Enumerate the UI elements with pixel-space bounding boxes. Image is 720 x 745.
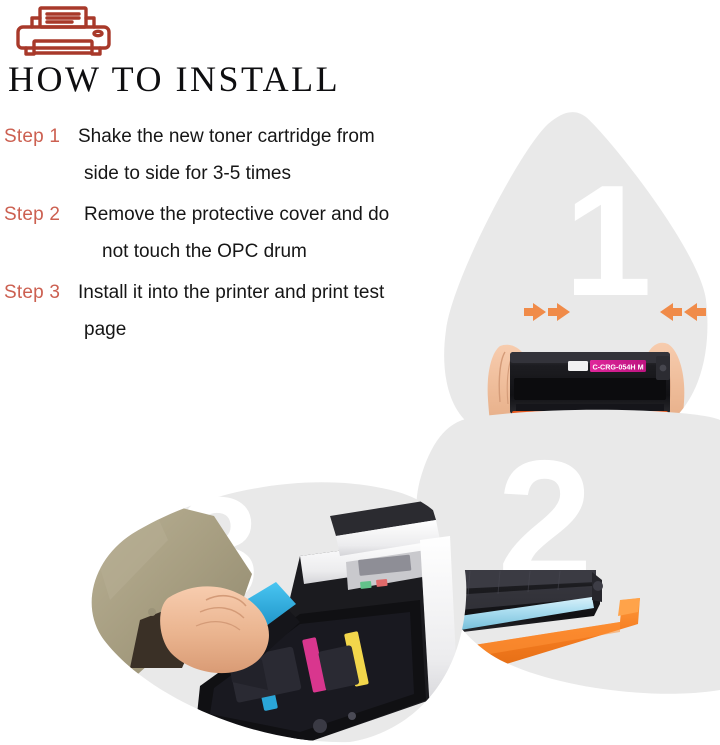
hands-holding-cartridge (488, 343, 685, 462)
step-item-3: Step 3 Install it into the printer and p… (4, 282, 474, 356)
cartridge-brand-tag (568, 361, 588, 371)
step-text-3-line-2: page (84, 319, 126, 340)
illustration-step-2: 2 (414, 410, 720, 694)
watermark-number-1: 1 (564, 153, 652, 329)
shirt-cuff (130, 606, 200, 668)
step-text-3-line-1: Install it into the printer and print te… (72, 282, 384, 304)
magenta-toner-cartridge: C-CRG-054H M (510, 352, 670, 423)
orange-protective-cover (440, 598, 640, 678)
bay-cyan-slot (256, 669, 278, 711)
step-text-2-line-2: not touch the OPC drum (90, 241, 307, 262)
panel-shape-3 (92, 482, 467, 742)
magenta-cartridge (302, 637, 327, 693)
opc-drum (432, 597, 594, 634)
illustration-step-3: 3 (60, 467, 466, 745)
printer-icon (12, 6, 122, 58)
printer-start-button (360, 581, 372, 589)
watermark-number-2: 2 (497, 425, 593, 617)
cyan-cartridge-in-hand (218, 582, 300, 690)
page-title: HOW TO INSTALL (8, 58, 340, 100)
step-label-1: Step 1 (4, 126, 72, 148)
step-item-2: Step 2 Remove the protective cover and d… (4, 204, 474, 278)
arrows-left (524, 303, 570, 321)
arrows-right (660, 303, 706, 321)
step-label-2: Step 2 (4, 204, 72, 226)
cartridge-label-text: C-CRG-054H M (592, 363, 643, 372)
illustration-collage: C-CRG-054H M 1 (0, 0, 720, 745)
printer-display (358, 555, 411, 576)
step-item-1: Step 1 Shake the new toner cartridge fro… (4, 126, 474, 200)
printer-stop-button (376, 579, 388, 587)
cartridge-label-tag (590, 360, 646, 372)
step-label-3: Step 3 (4, 282, 72, 304)
illustration-step-1: C-CRG-054H M 1 (444, 112, 707, 462)
hand (160, 586, 269, 673)
watermark-number-3: 3 (177, 467, 259, 632)
person-arm-and-hand (60, 500, 269, 700)
jacket-sleeve (60, 500, 252, 700)
panel-shape-2 (416, 410, 720, 694)
how-to-install-page: HOW TO INSTALL Step 1 Shake the new tone… (0, 0, 720, 745)
panel-shape-1 (444, 112, 707, 450)
sleeve-button (148, 608, 156, 616)
steps-list: Step 1 Shake the new toner cartridge fro… (4, 126, 474, 360)
step-text-1-line-2: side to side for 3-5 times (84, 163, 291, 184)
laser-printer (196, 500, 458, 745)
step-text-1-line-1: Shake the new toner cartridge from (72, 126, 375, 148)
step-text-2-line-1: Remove the protective cover and do (72, 204, 389, 226)
yellow-cartridge (344, 631, 369, 687)
toner-cartridge-with-drum (414, 570, 603, 636)
